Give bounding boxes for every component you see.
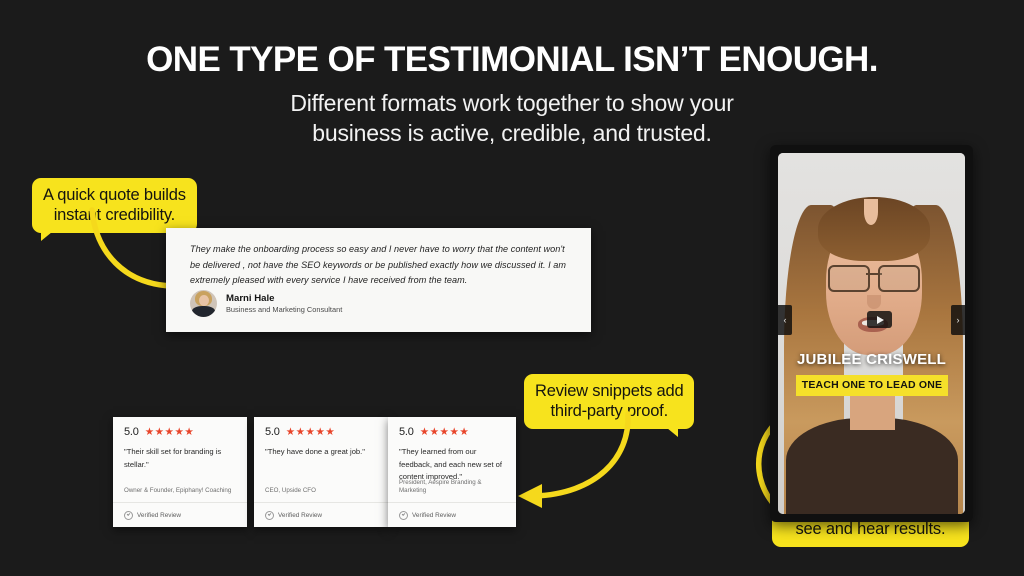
callout-review: Review snippets add third-party proof. xyxy=(524,374,694,429)
quote-author-text: Marni Hale Business and Marketing Consul… xyxy=(226,293,342,315)
verified-badge: Verified Review xyxy=(113,502,247,527)
review-attribution: CEO, Upside CFO xyxy=(265,487,380,495)
review-score: 5.0 xyxy=(124,426,139,438)
video-speaker-name: JUBILEE CRISWELL xyxy=(778,351,965,368)
review-rating: 5.0 ★★★★★ xyxy=(254,417,388,438)
speaker-glasses xyxy=(828,265,920,289)
glasses-lens-left xyxy=(828,265,870,292)
check-circle-icon xyxy=(265,511,274,520)
verified-badge: Verified Review xyxy=(388,502,516,527)
glasses-lens-right xyxy=(878,265,920,292)
star-rating-icon: ★★★★★ xyxy=(145,427,195,438)
video-testimonial-panel[interactable]: JUBILEE CRISWELL TEACH ONE TO LEAD ONE ‹… xyxy=(770,145,973,522)
speaker-nose xyxy=(867,295,881,309)
next-video-button[interactable]: › xyxy=(951,305,965,335)
review-rating: 5.0 ★★★★★ xyxy=(388,417,516,438)
avatar xyxy=(190,290,217,317)
check-circle-icon xyxy=(399,511,408,520)
play-button[interactable] xyxy=(867,311,892,328)
play-triangle-icon xyxy=(877,316,884,324)
star-rating-icon: ★★★★★ xyxy=(420,427,470,438)
quote-author: Marni Hale Business and Marketing Consul… xyxy=(190,290,342,317)
callout-quote-line-2: instant credibility. xyxy=(43,205,186,225)
video-player[interactable]: JUBILEE CRISWELL TEACH ONE TO LEAD ONE ‹… xyxy=(778,153,965,514)
review-quote: "Their skill set for branding is stellar… xyxy=(113,438,247,471)
speaker-hair-parting xyxy=(864,199,878,225)
avatar-face-shape xyxy=(199,295,209,306)
quote-text: They make the onboarding process so easy… xyxy=(190,242,568,289)
review-attribution: President, Aespire Branding & Marketing xyxy=(399,479,508,495)
verified-badge: Verified Review xyxy=(254,502,388,527)
review-card: 5.0 ★★★★★ "They have done a great job." … xyxy=(254,417,388,527)
verified-label: Verified Review xyxy=(278,512,322,519)
page-subtitle: Different formats work together to show … xyxy=(0,88,1024,149)
prev-video-button[interactable]: ‹ xyxy=(778,305,792,335)
subtitle-line-1: Different formats work together to show … xyxy=(0,88,1024,118)
quote-testimonial-card: They make the onboarding process so easy… xyxy=(166,228,591,332)
review-card: 5.0 ★★★★★ "Their skill set for branding … xyxy=(113,417,247,527)
video-badge: TEACH ONE TO LEAD ONE xyxy=(796,375,948,396)
review-attribution: Owner & Founder, Epiphany! Coaching xyxy=(124,487,239,495)
callout-quote-line-1: A quick quote builds xyxy=(43,185,186,205)
slide-canvas: ONE TYPE OF TESTIMONIAL ISN’T ENOUGH. Di… xyxy=(0,0,1024,576)
speaker-shoulders xyxy=(786,418,958,514)
author-name: Marni Hale xyxy=(226,293,342,305)
verified-label: Verified Review xyxy=(137,512,181,519)
callout-review-line-2: third-party proof. xyxy=(535,401,683,421)
review-quote: "They learned from our feedback, and eac… xyxy=(388,438,516,484)
review-score: 5.0 xyxy=(265,426,280,438)
review-card: 5.0 ★★★★★ "They learned from our feedbac… xyxy=(388,417,516,527)
review-quote: "They have done a great job." xyxy=(254,438,388,459)
avatar-body-shape xyxy=(192,306,215,317)
page-title: ONE TYPE OF TESTIMONIAL ISN’T ENOUGH. xyxy=(0,40,1024,80)
review-score: 5.0 xyxy=(399,426,414,438)
callout-video-line-2: see and hear results. xyxy=(783,519,958,539)
callout-quote: A quick quote builds instant credibility… xyxy=(32,178,197,233)
check-circle-icon xyxy=(124,511,133,520)
author-role: Business and Marketing Consultant xyxy=(226,305,342,315)
star-rating-icon: ★★★★★ xyxy=(286,427,336,438)
callout-review-line-1: Review snippets add xyxy=(535,381,683,401)
review-rating: 5.0 ★★★★★ xyxy=(113,417,247,438)
verified-label: Verified Review xyxy=(412,512,456,519)
